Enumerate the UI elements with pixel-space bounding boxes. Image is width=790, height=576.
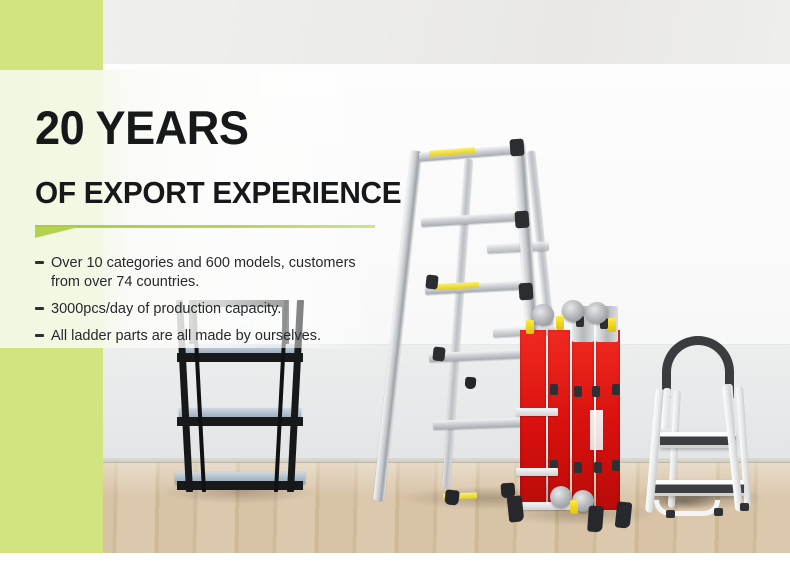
ladder-hole <box>612 460 620 471</box>
ladder-step <box>516 468 558 476</box>
dash-bullet-icon <box>35 334 44 337</box>
ladder-hole <box>550 384 558 395</box>
bullet-text: 3000pcs/day of production capacity. <box>51 301 281 317</box>
feature-bullet-list: Over 10 categories and 600 models, custo… <box>35 254 435 347</box>
dash-bullet-icon <box>35 307 44 310</box>
dash-bullet-icon <box>35 261 44 264</box>
ladder-rear-rail <box>442 159 473 489</box>
list-item: All ladder parts are all made by ourselv… <box>35 327 381 346</box>
ladder-foot <box>615 501 633 528</box>
wall-upper-band <box>0 0 790 66</box>
ladder-hole <box>594 462 602 473</box>
list-item: Over 10 categories and 600 models, custo… <box>35 254 381 292</box>
ladder-clamp <box>518 283 533 301</box>
ladder-hole <box>574 386 582 397</box>
subheadline: OF EXPORT EXPERIENCE <box>35 177 419 208</box>
white-step-stool <box>640 340 755 515</box>
ladder-clamp <box>514 211 529 229</box>
ladder-hinge <box>532 304 554 326</box>
headline: 20 YEARS <box>35 104 419 151</box>
ladder-foot <box>587 506 604 533</box>
ladder-red-section <box>520 330 546 510</box>
ladder-hinge <box>562 300 584 322</box>
promo-banner: 20 YEARS OF EXPORT EXPERIENCE Over 10 ca… <box>0 0 790 576</box>
bullet-text: All ladder parts are all made by ourselv… <box>51 328 321 344</box>
ladder-hole <box>574 462 582 473</box>
divider-rule <box>35 225 375 238</box>
ladder-rung <box>421 212 517 227</box>
stool-base-brace <box>654 500 720 516</box>
red-multipurpose-ladder <box>520 300 635 530</box>
stool-foot <box>666 510 675 518</box>
ladder-hinge <box>550 486 572 508</box>
bullet-text: Over 10 categories and 600 models, custo… <box>51 255 356 290</box>
ladder-yellow-lock <box>526 320 534 334</box>
shelf-edge <box>177 417 303 426</box>
ladder-yellow-lock <box>608 318 616 332</box>
ladder-yellow-lock <box>570 500 578 514</box>
banner-copy: 20 YEARS OF EXPORT EXPERIENCE Over 10 ca… <box>35 104 435 355</box>
stool-foot <box>714 508 723 516</box>
stool-upper-tread <box>660 432 736 448</box>
stool-lower-tread <box>652 480 744 496</box>
ladder-foot <box>444 489 459 505</box>
ladder-foot <box>507 495 525 522</box>
ladder-step <box>516 408 558 416</box>
shelf-edge <box>177 481 303 490</box>
divider-bar <box>35 225 375 228</box>
divider-arrow-icon <box>35 227 79 238</box>
ladder-rear-foot <box>465 377 477 390</box>
ladder-hole <box>612 384 620 395</box>
ladder-hinge <box>586 302 608 324</box>
bottom-white-strip <box>0 553 790 576</box>
ladder-hole <box>592 386 600 397</box>
ladder-clamp <box>509 139 524 157</box>
list-item: 3000pcs/day of production capacity. <box>35 300 381 319</box>
stool-foot <box>740 503 749 511</box>
ladder-red-section <box>548 330 570 510</box>
ladder-yellow-lock <box>556 316 564 330</box>
ladder-warning-label <box>590 410 603 450</box>
